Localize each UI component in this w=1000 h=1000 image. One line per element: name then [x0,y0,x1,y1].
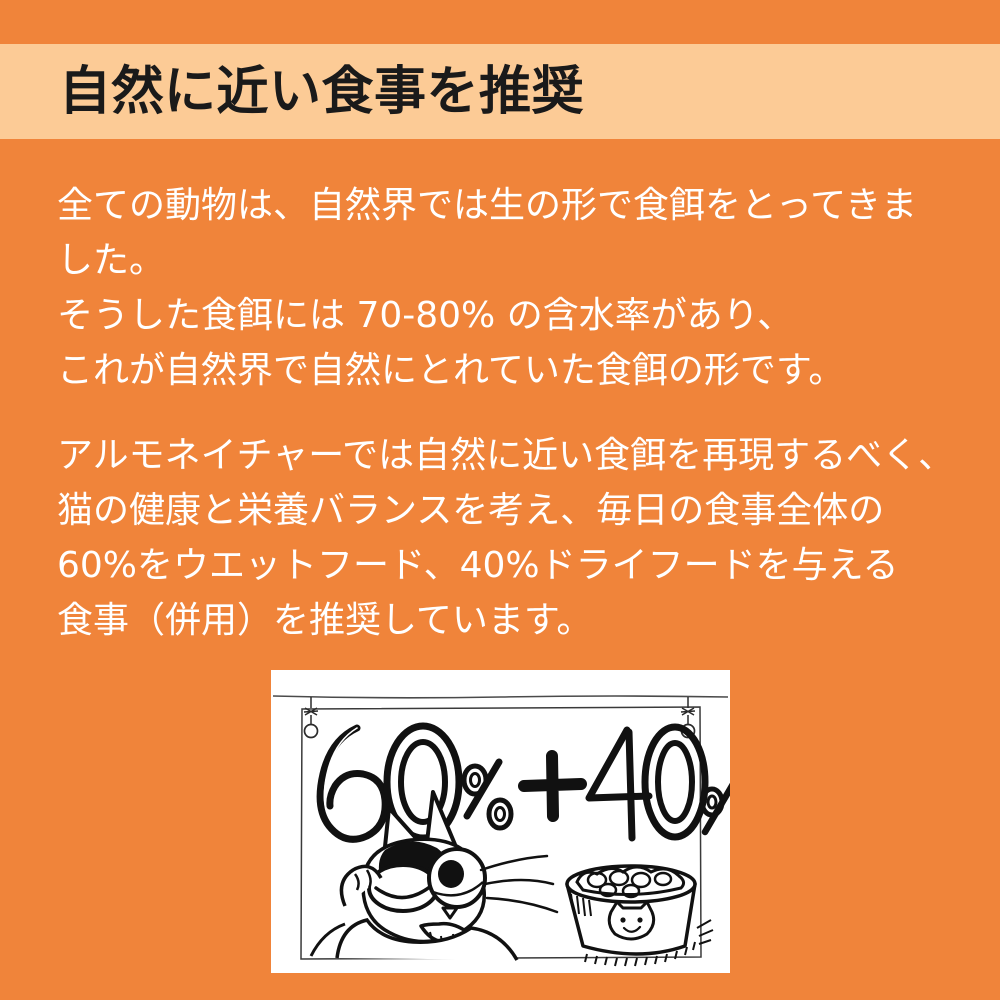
paragraph-2: アルモネイチャーでは自然に近い食餌を再現するべく、 猫の健康と栄養バランスを考え… [57,428,957,648]
paragraph-1-line-2: した。 [57,233,957,288]
header-banner: 自然に近い食事を推奨 [0,44,1000,139]
body-copy: 全ての動物は、自然界では生の形で食餌をとってきま した。 そうした食餌には 70… [57,178,957,648]
hanging-string [273,696,728,698]
percent-wet-60 [320,726,511,839]
cat-face-badge-icon [609,902,653,939]
paragraph-1-line-4: これが自然界で自然にとれていた食餌の形です。 [57,343,957,398]
paragraph-2-line-1: アルモネイチャーでは自然に近い食餌を再現するべく、 [57,428,957,483]
illustration-card [271,670,730,973]
poster-page: 自然に近い食事を推奨 全ての動物は、自然界では生の形で食餌をとってきま した。 … [0,0,1000,1000]
cat-eye-open [429,849,485,907]
paragraph-1: 全ての動物は、自然界では生の形で食餌をとってきま した。 そうした食餌には 70… [57,178,957,398]
paragraph-2-line-2: 猫の健康と栄養バランスを考え、毎日の食事全体の [57,483,957,538]
paragraph-1-line-3: そうした食餌には 70-80% の含水率があり、 [57,288,957,343]
paragraph-2-line-4: 食事（併用）を推奨しています。 [57,593,957,648]
winking-cat [311,792,557,960]
percent-sign-small-right [702,784,730,832]
paragraph-2-line-3: 60%をウエットフード、40%ドライフードを与える [57,538,957,593]
knot-left-icon [304,697,318,738]
paragraph-1-line-1: 全ての動物は、自然界では生の形で食餌をとってきま [57,178,957,233]
percent-sign-small-left [464,762,511,828]
page-title: 自然に近い食事を推奨 [0,66,584,118]
percent-dry-40 [589,727,705,838]
plus-sign [524,756,581,816]
cat-feeding-ratio-illustration [271,670,730,973]
food-bowl [567,866,713,966]
cat-eye-closed [369,865,437,911]
paragraph-spacer [57,398,957,428]
